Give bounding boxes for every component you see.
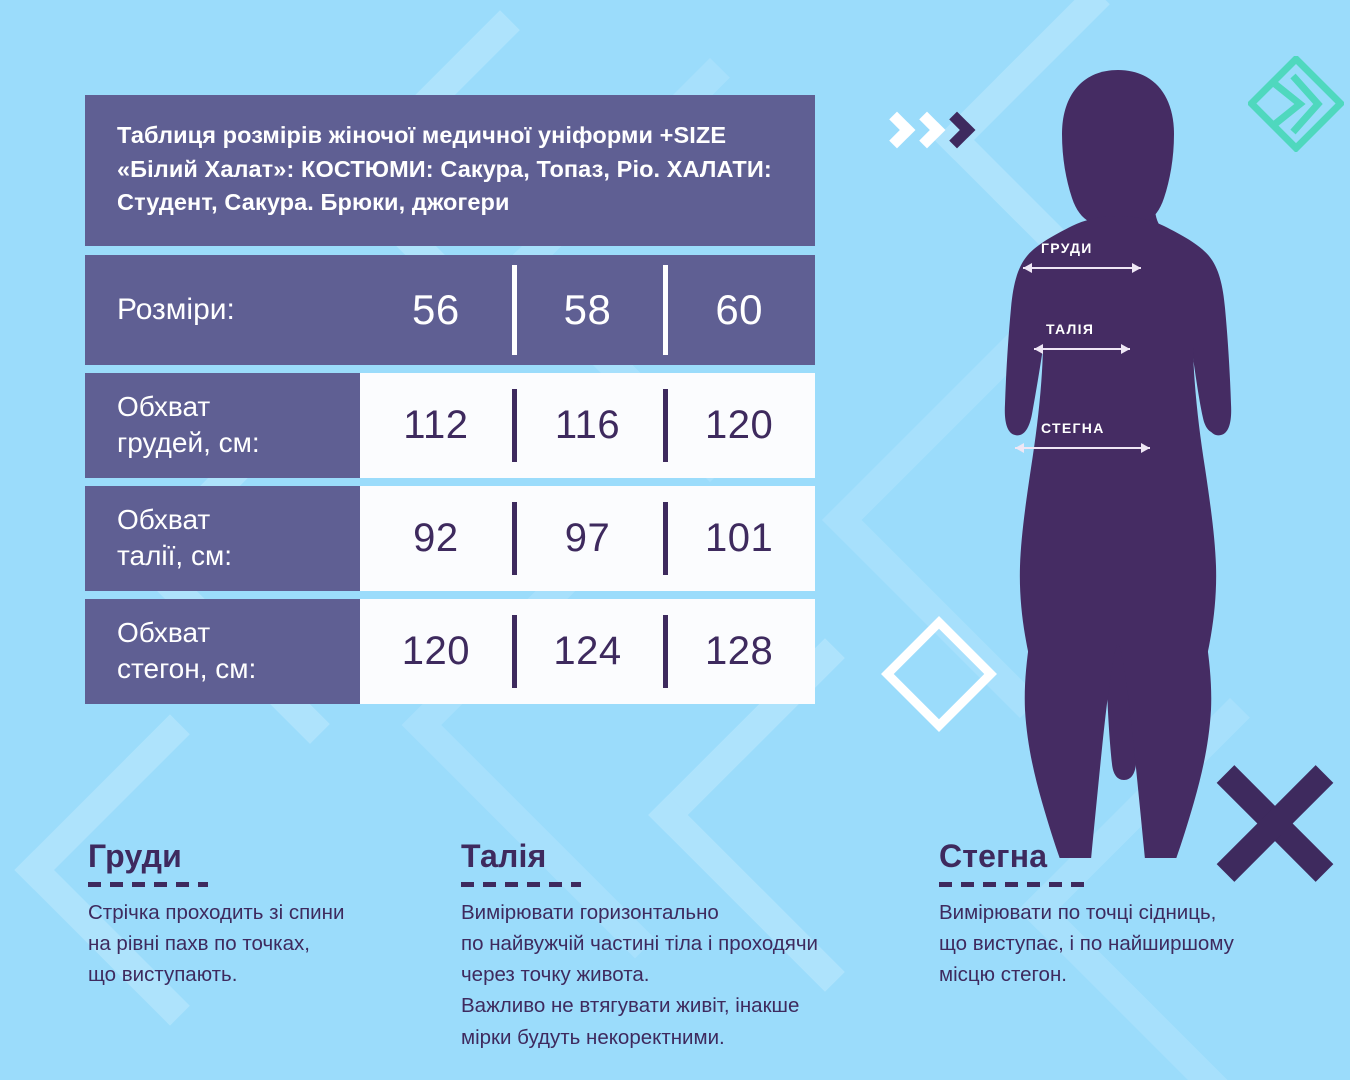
row-values: 92 97 101 (360, 486, 815, 591)
guide-heading: Груди (88, 838, 461, 875)
measurement-value: 128 (663, 599, 815, 704)
waist-measure-arrow (1034, 348, 1130, 350)
guide-heading: Стегна (939, 838, 1308, 875)
measurement-value: 97 (512, 486, 664, 591)
hips-measure-label: СТЕГНА (1041, 420, 1105, 436)
size-table: Таблиця розмірів жіночої медичної уніфор… (85, 95, 815, 704)
page-title: Таблиця розмірів жіночої медичної уніфор… (117, 119, 785, 220)
size-column-header: 60 (663, 255, 815, 365)
guide-text: Вимірювати по точці сідниць, що виступає… (939, 897, 1308, 990)
measurement-value: 92 (360, 486, 512, 591)
hips-measure-arrow (1015, 447, 1150, 449)
table-header-values: 56 58 60 (360, 255, 815, 365)
size-column-header: 58 (512, 255, 664, 365)
size-column-header: 56 (360, 255, 512, 365)
measurement-value: 120 (663, 373, 815, 478)
waist-measure-label: ТАЛІЯ (1046, 321, 1094, 337)
divider-dashes (939, 882, 1084, 887)
table-header-row: Розміри: 56 58 60 (85, 255, 815, 365)
row-values: 120 124 128 (360, 599, 815, 704)
guide-column-hips: Стегна Вимірювати по точці сідниць, що в… (939, 838, 1308, 1053)
table-row: Обхват стегон, см: 120 124 128 (85, 599, 815, 704)
divider-dashes (461, 882, 581, 887)
row-label-cell: Обхват стегон, см: (85, 599, 360, 704)
guide-column-bust: Груди Стрічка проходить зі спини на рівн… (88, 838, 461, 1053)
row-label-cell: Обхват талії, см: (85, 486, 360, 591)
table-title-bar: Таблиця розмірів жіночої медичної уніфор… (85, 95, 815, 246)
guide-text: Вимірювати горизонтально по найвужчій ча… (461, 897, 939, 1053)
female-silhouette: ГРУДИ ТАЛІЯ СТЕГНА (968, 58, 1268, 858)
bust-measure-label: ГРУДИ (1041, 240, 1093, 256)
diamond-chevron-logo (1248, 56, 1344, 152)
table-header-label-cell: Розміри: (85, 255, 360, 365)
infographic-canvas: Таблиця розмірів жіночої медичної уніфор… (0, 0, 1350, 1080)
row-label: Обхват грудей, см: (117, 389, 260, 461)
guide-column-waist: Талія Вимірювати горизонтально по найвуж… (461, 838, 939, 1053)
row-label-cell: Обхват грудей, см: (85, 373, 360, 478)
measurement-value: 124 (512, 599, 664, 704)
bust-measure-arrow (1023, 267, 1141, 269)
measurement-value: 120 (360, 599, 512, 704)
measurement-value: 116 (512, 373, 664, 478)
measurement-guide: Груди Стрічка проходить зі спини на рівн… (88, 838, 1308, 1053)
table-row: Обхват талії, см: 92 97 101 (85, 486, 815, 591)
measurement-value: 101 (663, 486, 815, 591)
table-row: Обхват грудей, см: 112 116 120 (85, 373, 815, 478)
row-values: 112 116 120 (360, 373, 815, 478)
row-label: Обхват талії, см: (117, 502, 232, 574)
measurement-value: 112 (360, 373, 512, 478)
guide-heading: Талія (461, 838, 939, 875)
guide-text: Стрічка проходить зі спини на рівні пахв… (88, 897, 461, 990)
row-label: Обхват стегон, см: (117, 615, 256, 687)
divider-dashes (88, 882, 208, 887)
table-header-label: Розміри: (117, 291, 235, 329)
